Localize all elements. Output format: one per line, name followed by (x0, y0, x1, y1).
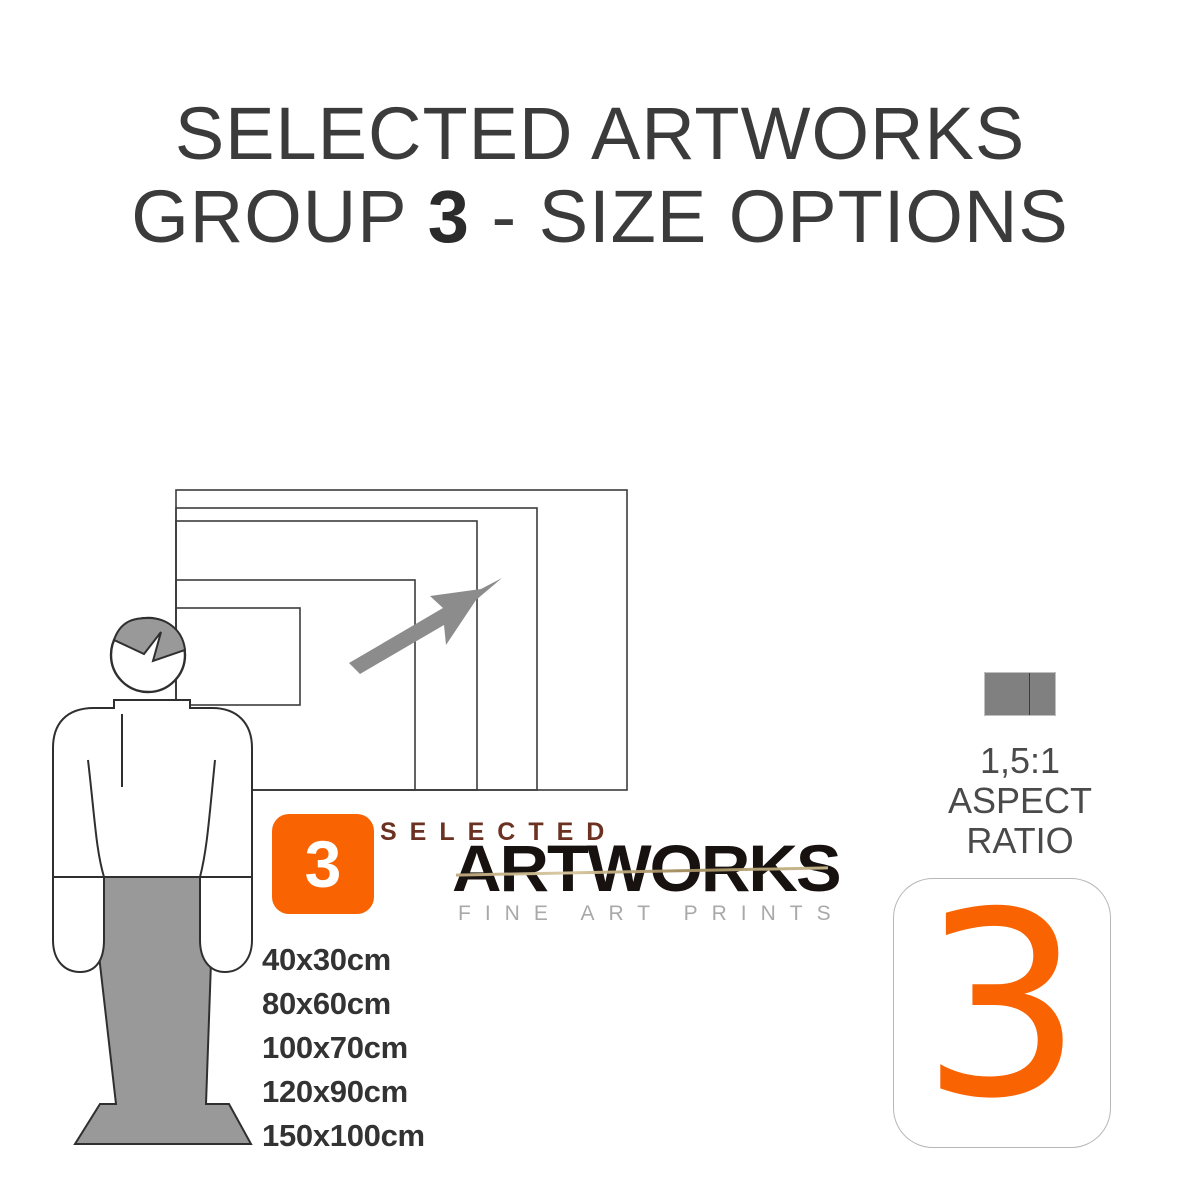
aspect-ratio-label-line2: RATIO (905, 821, 1135, 861)
aspect-ratio-value: 1,5:1 (905, 741, 1135, 781)
person-arm-seam-left (88, 760, 104, 877)
person-hair (114, 618, 185, 661)
size-option-1: 40x30cm (262, 938, 592, 982)
person-head (111, 618, 185, 692)
frame-120x90cm (176, 508, 537, 790)
size-option-4: 120x90cm (262, 1070, 592, 1114)
frame-100x70cm (176, 521, 477, 790)
group-tile-number: 3 (921, 879, 1083, 1134)
growth-arrow-up-right (349, 578, 502, 674)
person-lower-body (75, 877, 251, 1144)
title-group-prefix: GROUP (131, 175, 428, 258)
frame-rectangles (176, 490, 627, 790)
title-group-suffix: - SIZE OPTIONS (470, 175, 1069, 258)
aspect-ratio-label-line1: ASPECT (905, 781, 1135, 821)
brand-logo: 3 SELECTED ARTWORKS FINE ART PRINTS (272, 810, 832, 925)
logo-tagline-text: FINE ART PRINTS (458, 902, 845, 926)
title-line-2: GROUP 3 - SIZE OPTIONS (0, 179, 1200, 254)
size-option-3: 100x70cm (262, 1026, 592, 1070)
title-group-number: 3 (428, 175, 470, 258)
aspect-ratio-panel: 1,5:1 ASPECT RATIO (905, 672, 1135, 861)
frame-80x60cm (176, 580, 415, 790)
frame-40x30cm (176, 608, 300, 705)
standing-person-silhouette (53, 618, 252, 1144)
aspect-ratio-divider (1029, 673, 1030, 715)
frame-150x100cm (176, 490, 627, 790)
person-torso (53, 700, 252, 972)
page-title: SELECTED ARTWORKS GROUP 3 - SIZE OPTIONS (0, 96, 1200, 255)
aspect-ratio-swatch-icon (984, 672, 1056, 716)
size-option-2: 80x60cm (262, 982, 592, 1026)
group-badge: 3 (272, 814, 374, 914)
size-option-5: 150x100cm (262, 1114, 592, 1158)
title-line-1: SELECTED ARTWORKS (0, 96, 1200, 171)
person-arm-seam-right (200, 760, 215, 877)
group-number-tile: 3 (893, 878, 1111, 1148)
group-badge-number: 3 (305, 831, 342, 897)
size-options-list: 40x30cm 80x60cm 100x70cm 120x90cm 150x10… (262, 938, 592, 1158)
